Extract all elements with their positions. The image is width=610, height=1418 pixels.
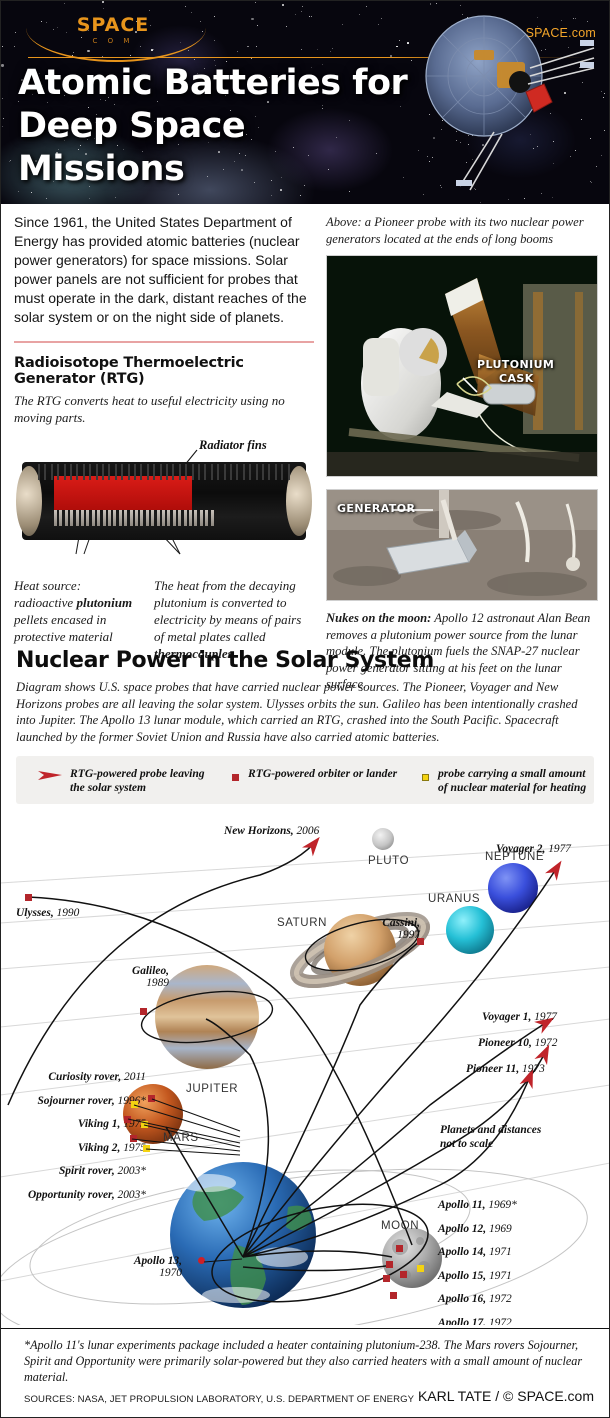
- page-title: Atomic Batteries for Deep Space Missions: [18, 62, 418, 191]
- rtg-thermocouple-plate: [59, 510, 62, 526]
- rtg-caption-left-4: protective material: [14, 629, 113, 644]
- mars-marker-leader-lines: [120, 1091, 250, 1161]
- mission-label-apollo-15: Apollo 15, 1971: [438, 1270, 512, 1282]
- rtg-thermocouple-plate: [178, 510, 181, 526]
- left-column: Since 1961, the United States Department…: [14, 204, 314, 662]
- rtg-fin: [128, 464, 130, 480]
- rtg-fin: [115, 464, 117, 480]
- rtg-fin: [172, 464, 174, 480]
- logo-dotcom: C O M: [48, 37, 178, 45]
- mission-label-curiosity-rover: Curiosity rover, 2011: [6, 1071, 146, 1083]
- rtg-thermocouple-plate: [124, 510, 127, 526]
- mission-year: 1969*: [485, 1199, 516, 1211]
- rtg-thermocouple-plate: [151, 510, 154, 526]
- probe-name-voyager-2: Voyager 2: [496, 843, 543, 855]
- apollo13-leader-line: [204, 1257, 244, 1267]
- rtg-thermocouple-plate: [146, 510, 149, 526]
- rtg-fin: [89, 464, 91, 480]
- probe-label-voyager-2: Voyager 2, 1977: [496, 843, 571, 855]
- moon-caption-lead: Nukes on the moon:: [326, 611, 431, 625]
- probe-label-pioneer-11: Pioneer 11, 1973: [466, 1063, 545, 1075]
- mission-year: 2003*: [115, 1189, 146, 1201]
- mission-year: 1969: [486, 1223, 512, 1235]
- planet-label-pluto: PLUTO: [368, 855, 409, 867]
- probe-year-pioneer-11: 1973: [522, 1063, 545, 1075]
- rtg-fin: [44, 464, 46, 480]
- mission-name: Apollo 15: [438, 1270, 483, 1282]
- rtg-fin: [211, 464, 213, 480]
- planet-label-saturn: SATURN: [277, 917, 327, 929]
- rtg-thermocouple-plate: [189, 510, 192, 526]
- rtg-thermocouple-plate: [211, 510, 214, 526]
- rtg-cutaway-illustration: Radiator fins: [14, 436, 314, 571]
- rtg-thermocouple-plate: [167, 510, 170, 526]
- scale-note-line2: not to scale: [440, 1138, 493, 1150]
- rtg-fin: [166, 464, 168, 480]
- mission-name: Apollo 11: [438, 1199, 483, 1211]
- probe-name-ulysses: Ulysses: [16, 907, 51, 919]
- rtg-fin: [134, 464, 136, 480]
- planet-label-uranus: URANUS: [428, 893, 480, 905]
- marker-moon-apollo17: [390, 1292, 397, 1299]
- logo-wordmark: SPACE: [48, 16, 178, 35]
- space-com-logo[interactable]: SPACE C O M: [48, 16, 178, 56]
- rtg-thermocouple-plate: [157, 510, 160, 526]
- planet-uranus: [446, 906, 494, 954]
- rtg-fin: [108, 464, 110, 480]
- marker-moon-apollo11: [417, 1265, 424, 1272]
- right-column: Above: a Pioneer probe with its two nucl…: [326, 204, 598, 693]
- mission-label-apollo-12: Apollo 12, 1969: [438, 1223, 512, 1235]
- rtg-fin: [70, 464, 72, 480]
- rtg-fin: [288, 464, 290, 480]
- footnote-text: *Apollo 11's lunar experiments package i…: [24, 1337, 590, 1386]
- probe-name-cassini: Cassini: [382, 917, 417, 929]
- mission-year: 1972: [486, 1293, 512, 1305]
- rtg-caption-right-3: electricity by means of pairs: [154, 612, 301, 627]
- footer-divider: [0, 1328, 610, 1329]
- probe-label-new-horizons: New Horizons, 2006: [224, 825, 319, 837]
- rtg-thermocouple-plate: [194, 510, 197, 526]
- mission-name: Apollo 12: [438, 1223, 483, 1235]
- marker-cassini: [417, 938, 424, 945]
- mission-label-apollo-17: Apollo 17, 1972: [438, 1317, 512, 1326]
- mission-label-spirit-rover: Spirit rover, 2003*: [6, 1165, 146, 1177]
- scale-note: Planets and distances not to scale: [440, 1123, 541, 1151]
- probe-year-new-horizons: 2006: [296, 825, 319, 837]
- mission-label-apollo-16: Apollo 16, 1972: [438, 1293, 512, 1305]
- legend-item-1: RTG-powered orbiter or lander: [248, 767, 397, 781]
- legend-item-0-line1: RTG-powered probe leaving: [70, 767, 205, 780]
- mission-name: Spirit rover: [59, 1165, 112, 1177]
- mission-name: Curiosity rover: [48, 1071, 118, 1083]
- rtg-fin: [249, 464, 251, 480]
- rtg-fin: [102, 464, 104, 480]
- probe-label-galileo: Galileo,1989: [117, 965, 169, 989]
- legend-yellow-square-icon: [422, 774, 429, 781]
- rtg-thermocouple-plate: [140, 510, 143, 526]
- pioneer-spacecraft-illustration: [402, 4, 602, 194]
- mission-year: 2011: [121, 1071, 146, 1083]
- rtg-thermocouple-plate: [108, 510, 111, 526]
- legend-item-2: probe carrying a small amount of nuclear…: [438, 767, 586, 795]
- probe-year-pioneer-10: 1972: [535, 1037, 558, 1049]
- mission-year: 1971: [486, 1246, 512, 1258]
- rtg-thermocouple-plate: [76, 510, 79, 526]
- probe-label-voyager-1: Voyager 1, 1977: [482, 1011, 557, 1023]
- rtg-heading: Radioisotope Thermoelectric Generator (R…: [14, 355, 314, 387]
- rtg-fin: [262, 464, 264, 480]
- legend-red-square-icon: [232, 774, 239, 781]
- rtg-fin: [236, 464, 238, 480]
- sources-line: SOURCES: NASA, JET PROPULSION LABORATORY…: [24, 1394, 414, 1405]
- rtg-fin: [147, 464, 149, 480]
- rtg-fin: [217, 464, 219, 480]
- diagram-legend: RTG-powered probe leaving the solar syst…: [16, 756, 594, 804]
- rtg-plutonium-core: [54, 476, 192, 510]
- rtg-fin: [204, 464, 206, 480]
- page-title-line2: Deep Space Missions: [18, 105, 418, 191]
- rtg-fin: [140, 464, 142, 480]
- intro-paragraph: Since 1961, the United States Department…: [14, 213, 314, 327]
- infographic-page: SPACE C O M www.SPACE.com Atomic Batteri…: [0, 0, 610, 1418]
- rtg-thermocouple-plate: [173, 510, 176, 526]
- rtg-thermocouple-plate: [70, 510, 73, 526]
- solar-system-heading: Nuclear Power in the Solar System: [16, 648, 594, 673]
- solar-system-section-header: Nuclear Power in the Solar System Diagra…: [16, 648, 594, 804]
- mission-name: Sojourner rover: [37, 1095, 111, 1107]
- rtg-thermocouple-plate: [54, 510, 57, 526]
- rtg-fin: [96, 464, 98, 480]
- solar-system-description: Diagram shows U.S. space probes that hav…: [16, 679, 594, 745]
- mission-name: Viking 1: [78, 1118, 118, 1130]
- marker-galileo: [140, 1008, 147, 1015]
- rtg-fin: [179, 464, 181, 480]
- rtg-thermocouple-plate: [119, 510, 122, 526]
- rtg-fin: [83, 464, 85, 480]
- rtg-fin: [256, 464, 258, 480]
- legend-item-2-line2: of nuclear material for heating: [438, 781, 586, 794]
- page-title-line1: Atomic Batteries for: [18, 62, 418, 105]
- rtg-thermocouple-plate: [81, 510, 84, 526]
- plutonium-cask-label-line2: CASK: [499, 372, 534, 385]
- probe-name-new-horizons: New Horizons: [224, 825, 291, 837]
- rtg-thermocouple-plate: [65, 510, 68, 526]
- mission-name: Viking 2: [78, 1142, 118, 1154]
- solar-system-diagram: PLUTO NEPTUNE URANUS SATURN JUPITER MARS…: [0, 805, 610, 1325]
- rtg-thermocouple-plate: [113, 510, 116, 526]
- legend-item-0-line2: the solar system: [70, 781, 146, 794]
- mission-name: Apollo 16: [438, 1293, 483, 1305]
- mission-name: Opportunity rover: [28, 1189, 112, 1201]
- marker-moon-apollo14: [386, 1261, 393, 1268]
- apollo12-photo-art: [327, 256, 598, 477]
- plutonium-cask-label-line1: PLUTONIUM: [477, 358, 554, 371]
- apollo12-astronaut-photo: PLUTONIUM CASK: [326, 255, 598, 477]
- rtg-fin: [192, 464, 194, 480]
- probe-year-apollo-13: 1970: [159, 1267, 182, 1279]
- legend-item-2-line1: probe carrying a small amount: [438, 767, 586, 780]
- probe-name-pioneer-10: Pioneer 10: [478, 1037, 529, 1049]
- probe-name-pioneer-11: Pioneer 11: [466, 1063, 516, 1075]
- rtg-thermocouple-plate: [103, 510, 106, 526]
- rtg-caption-right-2: plutonium is converted to: [154, 595, 287, 610]
- rtg-thermocouple-plate: [86, 510, 89, 526]
- legend-item-0: RTG-powered probe leaving the solar syst…: [70, 767, 205, 795]
- rtg-fin: [121, 464, 123, 480]
- rtg-fin: [230, 464, 232, 480]
- rtg-thermocouple-plate: [162, 510, 165, 526]
- rtg-caption-right-1: The heat from the decaying: [154, 578, 296, 593]
- credit-line: KARL TATE / © SPACE.com: [418, 1388, 594, 1404]
- generator-leader-line: [393, 507, 433, 513]
- planet-label-moon: MOON: [381, 1220, 419, 1232]
- rtg-fin: [38, 464, 40, 480]
- rtg-fin: [57, 464, 59, 480]
- marker-moon-apollo15: [400, 1271, 407, 1278]
- probe-label-cassini: Cassini,1997: [356, 917, 420, 941]
- rtg-end-cap-right: [286, 466, 312, 536]
- probe-name-galileo: Galileo: [132, 965, 166, 977]
- rtg-caption-left-2: radioactive: [14, 595, 76, 610]
- mission-name: Apollo 14: [438, 1246, 483, 1258]
- probe-year-voyager-2: 1977: [548, 843, 571, 855]
- rtg-caption-right-4: of metal plates called: [154, 629, 266, 644]
- rtg-fin: [243, 464, 245, 480]
- legend-item-1-line1: RTG-powered orbiter or lander: [248, 767, 397, 780]
- rtg-fin: [185, 464, 187, 480]
- pioneer-photo-caption: Above: a Pioneer probe with its two nucl…: [326, 214, 598, 247]
- rtg-thermocouple-plate: [97, 510, 100, 526]
- mission-label-opportunity-rover: Opportunity rover, 2003*: [6, 1189, 146, 1201]
- mission-label-apollo-14: Apollo 14, 1971: [438, 1246, 512, 1258]
- rtg-fin: [198, 464, 200, 480]
- section-divider: [14, 341, 314, 343]
- probe-label-pioneer-10: Pioneer 10, 1972: [478, 1037, 557, 1049]
- rtg-caption-left-1: Heat source:: [14, 578, 81, 593]
- probe-year-galileo: 1989: [146, 977, 169, 989]
- rtg-thermocouple-plate: [200, 510, 203, 526]
- rtg-fin: [281, 464, 283, 480]
- mission-year: 2003*: [115, 1165, 146, 1177]
- rtg-thermocouple-plate: [205, 510, 208, 526]
- rtg-caption-left-bold: plutonium: [76, 595, 132, 610]
- probe-name-voyager-1: Voyager 1: [482, 1011, 529, 1023]
- rtg-thermocouple-plate: [135, 510, 138, 526]
- probe-year-ulysses: 1990: [57, 907, 80, 919]
- planet-jupiter: [155, 965, 259, 1069]
- rtg-thermocouple-plate: [130, 510, 133, 526]
- mission-year: 1972: [486, 1317, 512, 1326]
- rtg-fin: [153, 464, 155, 480]
- rtg-fin: [76, 464, 78, 480]
- planet-pluto: [372, 828, 394, 850]
- rtg-fin: [275, 464, 277, 480]
- mission-name: Apollo 17: [438, 1317, 483, 1326]
- rtg-thermocouple-plate: [184, 510, 187, 526]
- probe-year-voyager-1: 1977: [534, 1011, 557, 1023]
- mission-label-apollo-11: Apollo 11, 1969*: [438, 1199, 517, 1211]
- probe-label-ulysses: Ulysses, 1990: [16, 907, 79, 919]
- marker-ulysses: [25, 894, 32, 901]
- planet-moon: [382, 1228, 442, 1288]
- probe-name-apollo-13: Apollo 13: [134, 1255, 179, 1267]
- snap27-generator-photo: GENERATOR: [326, 489, 598, 601]
- header-banner: SPACE C O M www.SPACE.com Atomic Batteri…: [0, 0, 610, 204]
- mission-year: 1971: [486, 1270, 512, 1282]
- rtg-fin: [160, 464, 162, 480]
- rtg-thermocouple-plate: [92, 510, 95, 526]
- rtg-subheading: The RTG converts heat to useful electric…: [14, 392, 314, 426]
- scale-note-line1: Planets and distances: [440, 1124, 541, 1136]
- probe-label-apollo-13: Apollo 13,1970: [112, 1255, 182, 1279]
- rtg-fin: [268, 464, 270, 480]
- rtg-fin: [64, 464, 66, 480]
- rtg-fin: [51, 464, 53, 480]
- marker-moon-apollo16: [383, 1275, 390, 1282]
- rtg-fin: [224, 464, 226, 480]
- legend-red-arrow-icon: [38, 769, 62, 781]
- rtg-caption-left-3: pellets encased in: [14, 612, 106, 627]
- marker-moon-apollo12: [396, 1245, 403, 1252]
